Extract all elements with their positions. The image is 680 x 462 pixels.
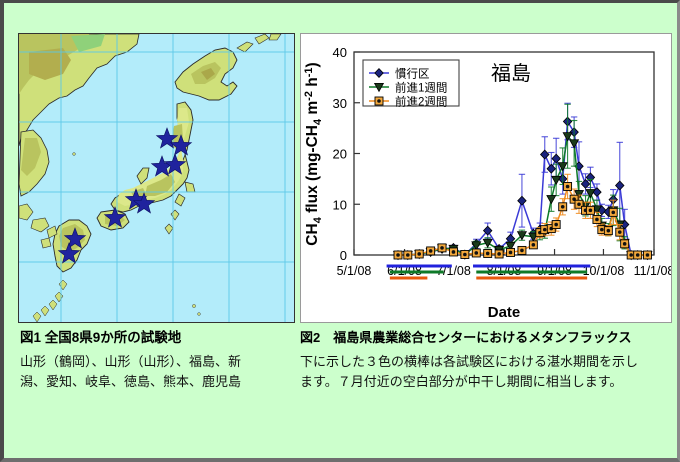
marker-square-group bbox=[552, 221, 560, 229]
marker-square-group bbox=[609, 208, 617, 216]
marker-square-group bbox=[415, 250, 423, 258]
marker-dot bbox=[636, 253, 640, 257]
marker-square-group bbox=[564, 182, 572, 190]
marker-dot bbox=[474, 251, 478, 255]
marker-dot bbox=[463, 253, 467, 257]
marker-square-group bbox=[604, 227, 612, 235]
marker-dot bbox=[566, 185, 570, 189]
marker-square-group bbox=[593, 215, 601, 223]
marker-dot bbox=[589, 209, 593, 213]
marker-dot bbox=[561, 205, 565, 209]
marker-square-group bbox=[559, 203, 567, 211]
y-tick-label: 30 bbox=[333, 96, 347, 111]
figure1-title: 図1 全国8県9か所の試験地 bbox=[20, 329, 288, 347]
marker-dot bbox=[629, 253, 633, 257]
marker-square-group bbox=[634, 251, 642, 259]
marker-square-group bbox=[586, 206, 594, 214]
figure1-body: 山形（鶴岡）、山形（山形）、福島、新 潟、愛知、岐阜、徳島、熊本、鹿児島 bbox=[20, 352, 288, 392]
ylabel-sup1: -1 bbox=[303, 67, 315, 77]
methane-flux-chart-panel: 010203040 5/1/086/1/087/1/088/1/089/1/08… bbox=[300, 33, 672, 323]
marker-dot bbox=[417, 252, 421, 256]
figure1-body-line1: 山形（鶴岡）、山形（山形）、福島、新 bbox=[20, 352, 288, 372]
marker-dot bbox=[406, 253, 410, 257]
marker-square-group bbox=[507, 248, 515, 256]
marker-square-group bbox=[449, 248, 457, 256]
marker-dot bbox=[646, 253, 650, 257]
marker-dot bbox=[452, 250, 456, 254]
legend-label-1[interactable]: 慣行区 bbox=[395, 67, 430, 81]
marker-dot bbox=[486, 252, 490, 256]
marker-dot bbox=[377, 99, 381, 103]
methane-flux-chart-svg: 010203040 5/1/086/1/087/1/088/1/089/1/08… bbox=[301, 34, 671, 322]
marker-dot bbox=[543, 228, 547, 232]
y-tick-label: 0 bbox=[340, 248, 347, 263]
marker-square-group bbox=[394, 251, 402, 259]
figure-page: 010203040 5/1/086/1/087/1/088/1/089/1/08… bbox=[0, 0, 680, 462]
chart-legend[interactable]: 慣行区前進1週間前進2週間 bbox=[363, 60, 459, 109]
marker-dot bbox=[607, 229, 611, 233]
legend-label-2[interactable]: 前進1週間 bbox=[395, 81, 447, 95]
marker-dot bbox=[554, 223, 558, 227]
marker-dot bbox=[509, 251, 513, 255]
marker-dot bbox=[440, 246, 444, 250]
figure2-body: 下に示した３色の横棒は各試験区における湛水期間を示し ます。７月付近の空白部分が… bbox=[300, 352, 672, 392]
marker-square-group bbox=[621, 240, 629, 248]
marker-square-group bbox=[461, 250, 469, 258]
marker-dot bbox=[532, 243, 536, 247]
marker-dot bbox=[577, 202, 581, 206]
x-axis-title: Date bbox=[488, 304, 521, 321]
figure2-title: 図2 福島県農業総合センターにおけるメタンフラックス bbox=[300, 329, 672, 347]
figure2-body-line1: 下に示した３色の横棒は各試験区における湛水期間を示し bbox=[300, 352, 672, 372]
marker-dot bbox=[595, 218, 599, 222]
x-tick-label: 11/1/08 bbox=[634, 264, 671, 278]
marker-square-group bbox=[495, 250, 503, 258]
marker-dot bbox=[618, 230, 622, 234]
chart-title: 福島 bbox=[491, 62, 531, 85]
figure1-caption: 図1 全国8県9か所の試験地 山形（鶴岡）、山形（山形）、福島、新 潟、愛知、岐… bbox=[20, 329, 288, 393]
marker-dot bbox=[520, 249, 524, 253]
marker-dot bbox=[396, 253, 400, 257]
marker-dot bbox=[600, 228, 604, 232]
x-tick-label: 5/1/08 bbox=[337, 264, 372, 278]
y-tick-label: 10 bbox=[333, 197, 347, 212]
japan-map-svg bbox=[19, 34, 294, 322]
marker-square-group bbox=[529, 241, 537, 249]
ylabel-flux: flux (mg-CH bbox=[304, 125, 321, 217]
legend-label-3[interactable]: 前進2週間 bbox=[395, 95, 447, 109]
japan-map-panel bbox=[18, 33, 295, 323]
marker-square-group bbox=[427, 247, 435, 255]
ylabel-h: h bbox=[304, 77, 321, 91]
ylabel-ch4: CH bbox=[304, 223, 321, 245]
legend-marker-3 bbox=[375, 97, 383, 105]
marker-square-group bbox=[643, 251, 651, 259]
y-tick-label: 20 bbox=[333, 147, 347, 162]
marker-square-group bbox=[616, 228, 624, 236]
ylabel-paren: ) bbox=[304, 62, 321, 67]
marker-dot bbox=[611, 211, 615, 215]
marker-square-group bbox=[484, 249, 492, 257]
marker-square-group bbox=[438, 244, 446, 252]
figure2-caption: 図2 福島県農業総合センターにおけるメタンフラックス 下に示した３色の横棒は各試… bbox=[300, 329, 672, 392]
figure1-body-line2: 潟、愛知、岐阜、徳島、熊本、鹿児島 bbox=[20, 372, 288, 392]
marker-square-group bbox=[472, 249, 480, 257]
marker-dot bbox=[429, 249, 433, 253]
ylabel-m: m bbox=[304, 101, 321, 119]
marker-dot bbox=[623, 242, 627, 246]
ylabel-sup2: -2 bbox=[303, 91, 315, 101]
marker-dot bbox=[497, 252, 501, 256]
figure2-body-line2: ます。７月付近の空白部分が中干し期間に相当します。 bbox=[300, 372, 672, 392]
marker-square-group bbox=[518, 246, 526, 254]
marker-square-group bbox=[404, 251, 412, 259]
y-tick-label: 40 bbox=[333, 45, 347, 60]
